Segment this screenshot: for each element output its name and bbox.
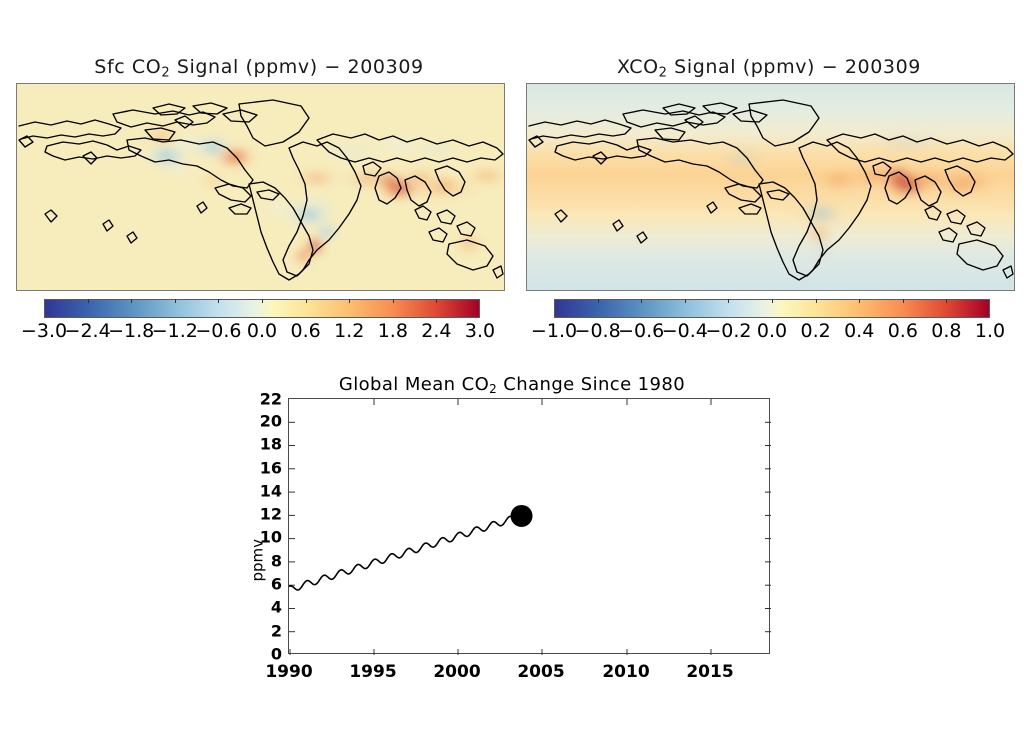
y-tick-10: 10	[252, 528, 282, 547]
y-tick-2: 2	[252, 622, 282, 641]
x-tick-2010: 2010	[602, 662, 649, 682]
y-tick-6: 6	[252, 575, 282, 594]
y-tick-20: 20	[252, 412, 282, 431]
x-tick-2015: 2015	[686, 662, 733, 682]
x-tick-2000: 2000	[433, 662, 480, 682]
ts-title-subscript: 2	[489, 382, 497, 396]
y-tick-4: 4	[252, 598, 282, 617]
timeseries-plot-area[interactable]	[288, 398, 770, 654]
ts-title-prefix: Global Mean CO	[339, 374, 489, 395]
current-month-marker[interactable]	[511, 505, 533, 527]
ts-title-suffix: Change Since 1980	[497, 374, 685, 395]
y-tick-16: 16	[252, 459, 282, 478]
timeseries-curve	[289, 399, 771, 655]
y-tick-22: 22	[252, 390, 282, 409]
y-tick-14: 14	[252, 482, 282, 501]
x-tick-1995: 1995	[349, 662, 396, 682]
y-tick-12: 12	[252, 505, 282, 524]
timeseries-line	[289, 516, 522, 590]
tick-marks	[289, 399, 771, 655]
x-tick-2005: 2005	[517, 662, 564, 682]
global-mean-timeseries-panel: Global Mean CO2 Change Since 1980 ppmv	[0, 0, 1024, 731]
y-tick-18: 18	[252, 435, 282, 454]
x-tick-1990: 1990	[265, 662, 312, 682]
y-tick-0: 0	[252, 645, 282, 664]
y-tick-8: 8	[252, 552, 282, 571]
timeseries-title: Global Mean CO2 Change Since 1980	[0, 374, 1024, 396]
